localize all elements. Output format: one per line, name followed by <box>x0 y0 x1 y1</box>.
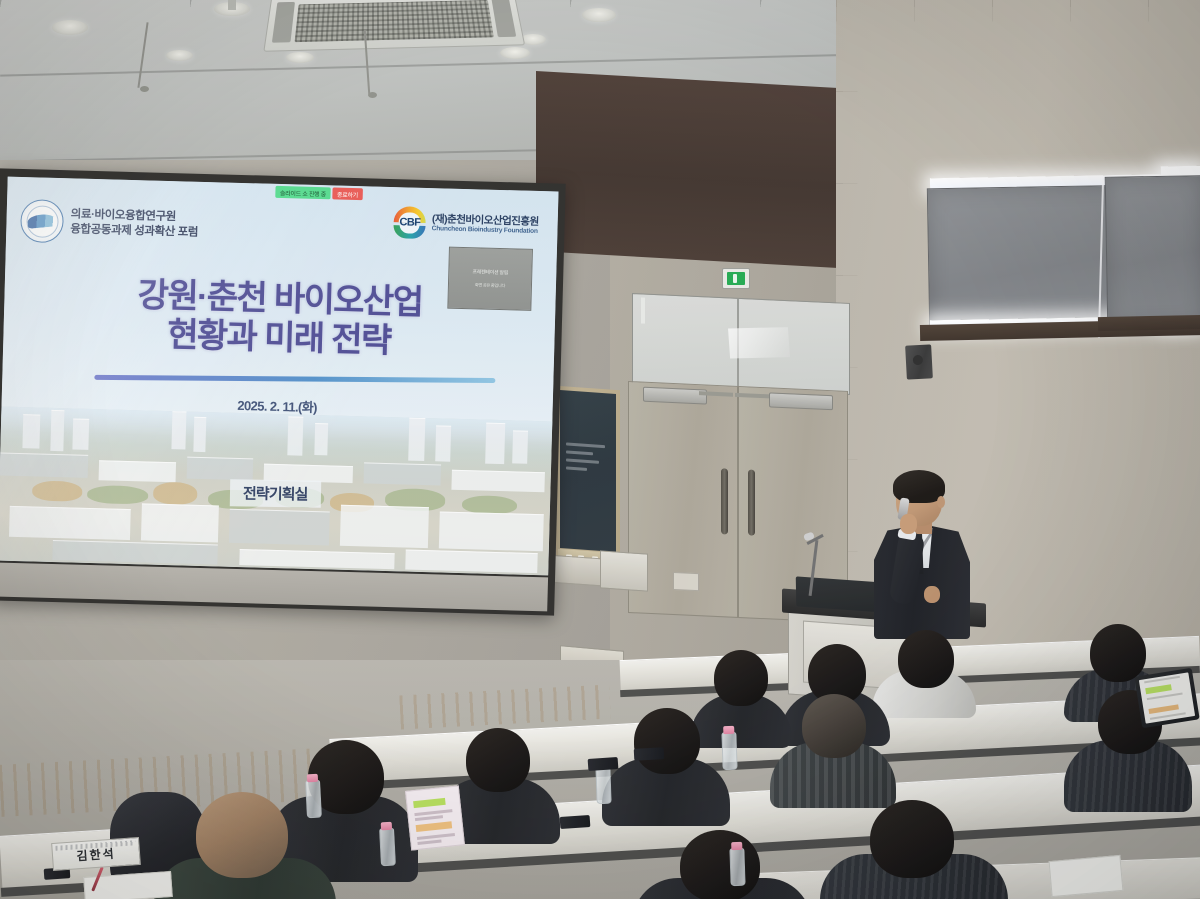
chalkboard <box>560 390 616 552</box>
door-handle[interactable] <box>721 468 728 534</box>
slide-department-badge: 전략기획실 <box>229 479 320 507</box>
water-bottle <box>721 732 737 771</box>
notice-line1: 프레젠테이션 알림 <box>472 268 508 276</box>
photo-scene: 슬라이드 쇼 진행 중 종료하기 의료·바이오융합연구원 융합공동과제 성과확산… <box>0 0 1200 899</box>
presenter-hand <box>924 586 940 603</box>
water-bottle <box>729 848 745 887</box>
water-bottle <box>595 766 611 805</box>
printed-document <box>405 785 465 850</box>
slide-title: 강원·춘천 바이오산업 현황과 미래 전략 <box>3 273 556 367</box>
presenter-person <box>868 474 978 639</box>
cbf-logo: CBF (재)춘천바이오산업진흥원 Chuncheon Bioindustry … <box>392 205 539 243</box>
research-institute-logo: 의료·바이오융합연구원 융합공동과제 성과확산 포럼 <box>20 199 199 247</box>
ac-grille <box>295 0 494 42</box>
downlight-icon <box>582 8 616 22</box>
downlight-icon <box>52 20 88 35</box>
sprinkler-icon <box>140 86 149 92</box>
chalkboard-frame <box>556 386 620 568</box>
university-seal-emblem-icon <box>20 199 64 243</box>
smartphone[interactable] <box>634 747 665 761</box>
ac-pipe <box>228 0 236 10</box>
dark-wood-wall-band <box>536 71 856 269</box>
door-transom-window <box>632 293 850 395</box>
ledge-equipment-box <box>600 550 648 591</box>
door-kickplate <box>673 572 699 591</box>
smartphone[interactable] <box>560 815 591 829</box>
wall-speaker-icon <box>905 344 933 379</box>
door-closer-arm <box>735 393 769 399</box>
ceiling-ac-unit <box>263 0 525 52</box>
presentation-toolbar[interactable]: 슬라이드 쇼 진행 중 종료하기 <box>275 186 362 200</box>
chalkboard-writing <box>566 442 610 477</box>
slide-surface: 슬라이드 쇼 진행 중 종료하기 의료·바이오융합연구원 융합공동과제 성과확산… <box>0 177 559 576</box>
tablet-on-stand[interactable] <box>1134 668 1199 728</box>
presenter-ear <box>937 496 945 508</box>
door-closer <box>643 387 707 405</box>
exit-sign-icon <box>722 268 750 289</box>
window-sill <box>1098 315 1200 331</box>
window-roller-blind[interactable] <box>1105 175 1200 327</box>
paper-sheet <box>1049 855 1124 897</box>
presenter-hand-holding-mic <box>900 514 917 534</box>
door-closer <box>769 392 833 410</box>
water-bottle <box>305 780 322 819</box>
cbf-mark-icon: CBF <box>392 205 427 240</box>
downlight-icon <box>500 47 530 59</box>
smartphone[interactable] <box>588 757 619 771</box>
projection-screen: 슬라이드 쇼 진행 중 종료하기 의료·바이오융합연구원 융합공동과제 성과확산… <box>0 168 566 615</box>
cbf-name-en: Chuncheon Bioindustry Foundation <box>432 225 539 236</box>
downlight-icon <box>166 50 193 61</box>
institute-name-line2: 융합공동과제 성과확산 포럼 <box>70 222 198 240</box>
downlight-icon <box>286 52 314 63</box>
toolbar-end-button[interactable]: 종료하기 <box>332 187 362 200</box>
toolbar-status-label[interactable]: 슬라이드 쇼 진행 중 <box>275 186 330 199</box>
cbf-mark-text: CBF <box>393 216 427 229</box>
water-bottle <box>379 828 396 867</box>
door-handle[interactable] <box>748 469 755 535</box>
